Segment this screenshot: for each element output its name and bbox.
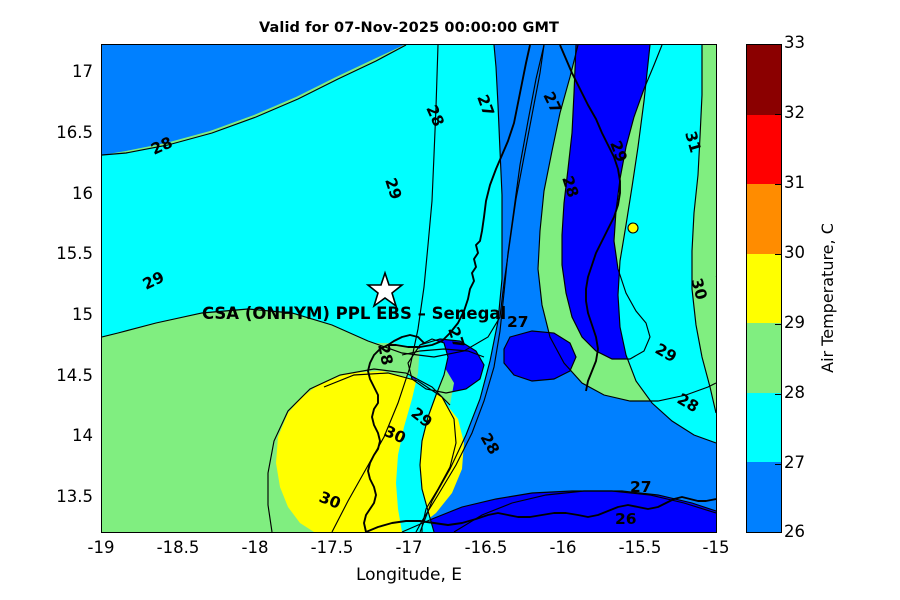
x-tick-label: -18.5 (157, 538, 200, 557)
colorbar-band-27-28 (747, 393, 781, 463)
colorbar-tick-label: 33 (784, 33, 805, 52)
y-tick-label: 14 (72, 426, 93, 445)
x-axis-label: Longitude, E (101, 565, 717, 585)
colorbar-tick-mark (775, 394, 782, 395)
contour-label: 27 (630, 478, 652, 496)
isolated-contour-dot (628, 223, 638, 233)
y-axis-ticks: 17 16.5 16 15.5 15 14.5 14 13.5 (0, 0, 93, 600)
x-tick-label: -15.5 (619, 538, 662, 557)
colorbar-tick-mark (775, 114, 782, 115)
colorbar-tick-mark (775, 184, 782, 185)
y-tick-label: 15.5 (56, 244, 93, 263)
colorbar-tick-label: 30 (784, 243, 805, 262)
x-tick-label: -16.5 (465, 538, 508, 557)
figure-canvas: Valid for 07-Nov-2025 00:00:00 GMT 17 16… (0, 0, 900, 600)
colorbar-band-28-29 (747, 323, 781, 393)
contour-map[interactable]: 28 28 27 27 29 29 29 31 28 30 29 28 28 2… (101, 44, 717, 533)
colorbar-tick-label: 31 (784, 173, 805, 192)
colorbar-axis-label: Air Temperature, C (818, 148, 837, 448)
contour-field: 28 28 27 27 29 29 29 31 28 30 29 28 28 2… (102, 45, 716, 532)
x-tick-label: -16 (550, 538, 577, 557)
colorbar-band-26-265 (747, 532, 781, 533)
y-tick-label: 16 (72, 184, 93, 203)
colorbar-tick-label: 29 (784, 313, 805, 332)
colorbar-tick-mark (775, 254, 782, 255)
contour-label: 27 (507, 313, 529, 331)
x-tick-label: -19 (88, 538, 115, 557)
colorbar[interactable] (746, 44, 782, 533)
colorbar-band-31-32 (747, 115, 781, 185)
colorbar-band-30-31 (747, 184, 781, 254)
y-tick-label: 15 (72, 305, 93, 324)
contour-label: 26 (615, 510, 637, 528)
colorbar-band-29-30 (747, 254, 781, 324)
page-title: Valid for 07-Nov-2025 00:00:00 GMT (101, 20, 717, 36)
y-tick-label: 14.5 (56, 366, 93, 385)
colorbar-tick-label: 32 (784, 103, 805, 122)
x-tick-label: -15 (703, 538, 730, 557)
colorbar-tick-mark (775, 324, 782, 325)
colorbar-band-32-33 (747, 45, 781, 115)
contour-render: 28 28 27 27 29 29 29 31 28 30 29 28 28 2… (102, 45, 716, 532)
y-tick-label: 16.5 (56, 123, 93, 142)
colorbar-tick-label: 26 (784, 522, 805, 541)
colorbar-band-265-27 (747, 462, 781, 532)
site-annotation: CSA (ONHYM) PPL EBS – Senegal (202, 304, 506, 323)
x-tick-label: -18 (242, 538, 269, 557)
x-tick-label: -17 (396, 538, 423, 557)
colorbar-tick-label: 27 (784, 453, 805, 472)
y-tick-label: 13.5 (56, 487, 93, 506)
y-tick-label: 17 (72, 62, 93, 81)
colorbar-tick-label: 28 (784, 383, 805, 402)
x-tick-label: -17.5 (311, 538, 354, 557)
colorbar-tick-mark (775, 464, 782, 465)
